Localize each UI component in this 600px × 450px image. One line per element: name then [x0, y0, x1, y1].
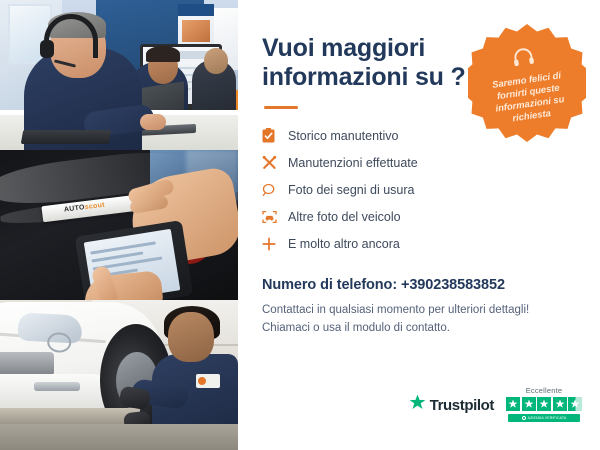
- magnifier-icon: [262, 183, 288, 197]
- mechanic-uniform-badge-decor: [196, 374, 220, 388]
- trustpilot-widget[interactable]: Trustpilot Eccellente: [409, 386, 582, 422]
- poster-header-decor: [178, 4, 214, 16]
- list-item: Altre foto del veicolo: [262, 203, 578, 230]
- agent-earcup-decor: [40, 40, 54, 58]
- verified-label: AZIENDA VERIFICATA: [528, 416, 567, 420]
- verified-check-icon: [522, 416, 526, 420]
- colleague-2-head-decor: [204, 48, 228, 74]
- contact-subtext-line-1: Contattaci in qualsiasi momento per ulte…: [262, 302, 578, 320]
- car-bumper-decor: [0, 374, 112, 408]
- car-grille-decor: [0, 352, 54, 376]
- title-divider: [264, 106, 298, 109]
- trustpilot-rating-label: Eccellente: [526, 386, 563, 395]
- vehicle-inspection-photo: AUTOscout: [0, 150, 238, 300]
- list-item-label: Foto dei segni di usura: [288, 183, 414, 197]
- list-item-label: Manutenzioni effettuate: [288, 156, 418, 170]
- call-center-agent-photo: [0, 0, 238, 150]
- burst-content: Saremo felici di fornirti queste informa…: [460, 16, 593, 149]
- agent-hand-decor: [140, 114, 166, 130]
- car-fog-lamp-decor: [34, 382, 80, 391]
- tablet-row-decor: [90, 241, 156, 254]
- scan-car-icon: [262, 210, 288, 224]
- tools-cross-icon: [262, 155, 288, 170]
- contact-subtext-line-2: Chiamaci o usa il modulo di contatto.: [262, 320, 578, 338]
- star-filled-icon: [537, 397, 551, 411]
- list-item: Foto dei segni di usura: [262, 176, 578, 203]
- contact-subtext: Contattaci in qualsiasi momento per ulte…: [262, 302, 578, 338]
- garage-floor-decor: [0, 424, 238, 450]
- trustpilot-logo: Trustpilot: [409, 394, 494, 416]
- mechanic-wheel-photo: [0, 300, 238, 450]
- car-lift-decor: [0, 408, 140, 424]
- trustpilot-verified-badge: AZIENDA VERIFICATA: [508, 414, 580, 422]
- phone-number-line[interactable]: Numero di telefono: +390238583852: [262, 277, 578, 293]
- keyboard-decor: [21, 130, 111, 144]
- headset-icon: [511, 47, 536, 73]
- mechanic-head-decor: [168, 312, 214, 362]
- plus-icon: [262, 237, 288, 251]
- list-item-label: E molto altro ancora: [288, 237, 400, 251]
- list-item-label: Storico manutentivo: [288, 129, 398, 143]
- star-filled-icon: [553, 397, 567, 411]
- content-panel: Vuoi maggiori informazioni su ? Storico …: [238, 0, 600, 450]
- badge-dot-decor: [198, 377, 206, 385]
- trustpilot-rating-block: Eccellente: [506, 386, 582, 422]
- advertisement-banner: AUTOscout: [0, 0, 600, 450]
- promo-burst-badge: Saremo felici di fornirti queste informa…: [468, 24, 586, 142]
- trustpilot-star-icon: [409, 394, 426, 416]
- trustpilot-stars: [506, 397, 582, 411]
- list-item: Manutenzioni effettuate: [262, 149, 578, 176]
- auto-brand-mark: AUTOscout: [64, 202, 106, 214]
- clipboard-check-icon: [262, 128, 288, 143]
- trustpilot-name: Trustpilot: [430, 397, 494, 414]
- colleague-hair-decor: [146, 46, 180, 62]
- car-headlight-decor: [17, 312, 82, 343]
- star-filled-icon: [522, 397, 536, 411]
- star-filled-icon: [506, 397, 520, 411]
- list-item: E molto altro ancora: [262, 230, 578, 257]
- list-item-label: Altre foto del veicolo: [288, 210, 401, 224]
- photo-column: AUTOscout: [0, 0, 238, 450]
- poster-image-decor: [182, 20, 210, 42]
- feature-list: Storico manutentivo Manutenzioni effettu…: [262, 122, 578, 257]
- burst-text: Saremo felici di fornirti queste informa…: [483, 68, 575, 128]
- star-partial-icon: [568, 397, 582, 411]
